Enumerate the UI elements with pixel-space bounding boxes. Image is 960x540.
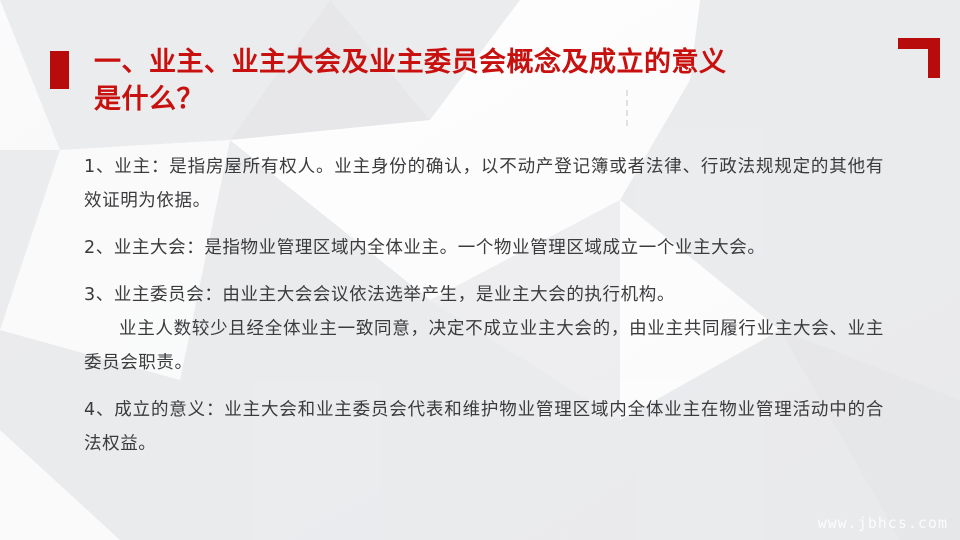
paragraph-item-3: 3、业主委员会：由业主大会会议依法选举产生，是业主大会的执行机构。	[84, 278, 884, 312]
slide-title-row: 一、业主、业主大会及业主委员会概念及成立的意义 是什么？	[50, 44, 900, 119]
paragraph-item-2: 2、业主大会：是指物业管理区域内全体业主。一个物业管理区域成立一个业主大会。	[84, 231, 884, 265]
title-marker-block	[50, 51, 69, 89]
paragraph-item-1: 1、业主：是指房屋所有权人。业主身份的确认，以不动产登记簿或者法律、行政法规规定…	[84, 150, 884, 218]
slide-canvas: 一、业主、业主大会及业主委员会概念及成立的意义 是什么？ 1、业主：是指房屋所有…	[0, 0, 960, 540]
paragraph-item-3-note: 业主人数较少且经全体业主一致同意，决定不成立业主大会的，由业主共同履行业主大会、…	[84, 312, 884, 380]
body-content: 1、业主：是指房屋所有权人。业主身份的确认，以不动产登记簿或者法律、行政法规规定…	[84, 150, 884, 474]
watermark-text: www.jbhcs.com	[818, 514, 948, 532]
slide-title: 一、业主、业主大会及业主委员会概念及成立的意义 是什么？	[94, 44, 727, 119]
paragraph-item-4: 4、成立的意义：业主大会和业主委员会代表和维护物业管理区域内全体业主在物业管理活…	[84, 393, 884, 461]
corner-bracket-icon	[898, 38, 940, 78]
